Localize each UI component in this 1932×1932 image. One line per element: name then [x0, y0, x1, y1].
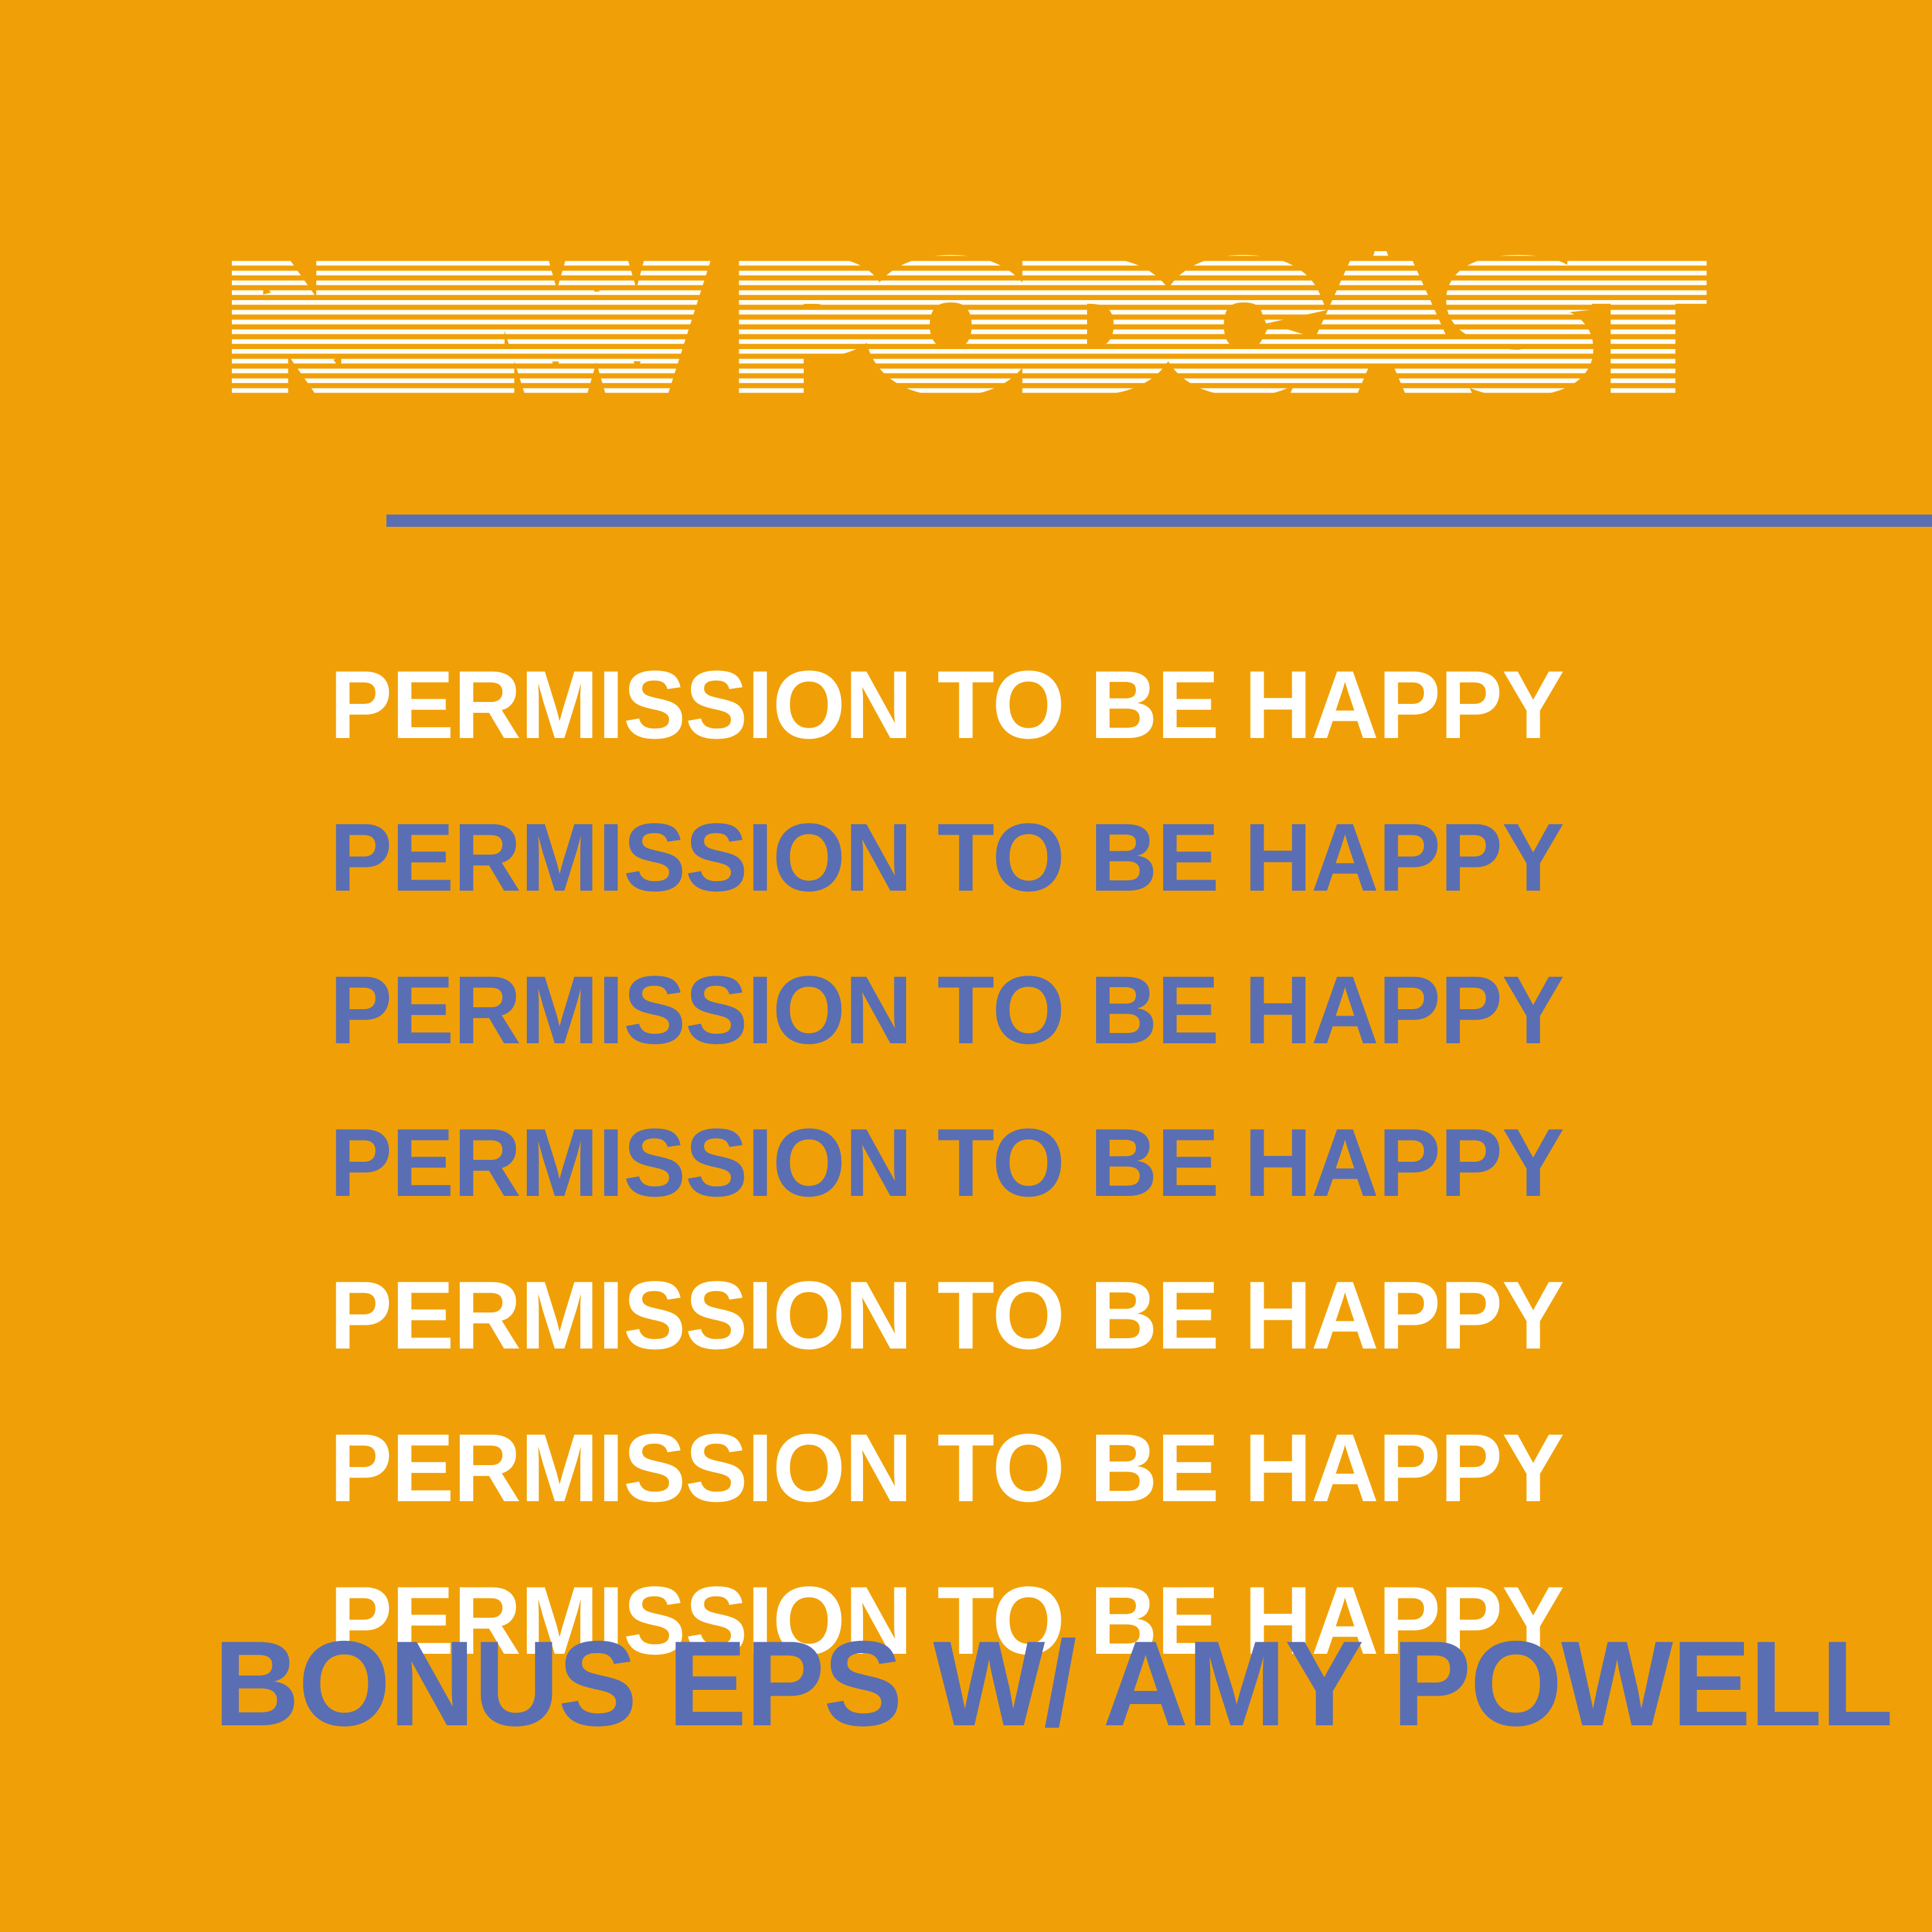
footer-credit-text: BONUS EPS W/ AMY POWELL: [214, 1623, 1892, 1744]
headline-row-text: PERMISSION TO BE HAPPY: [330, 809, 1564, 905]
headline-row-list: PERMISSION TO BE HAPPY PERMISSION TO BE …: [0, 628, 1932, 1696]
podcast-promo-poster: NEW PODCAST PERMISSION TO BE HAPPY PERMI…: [0, 0, 1932, 1932]
headline-row-text: PERMISSION TO BE HAPPY: [330, 1267, 1564, 1363]
headline-row-text: PERMISSION TO BE HAPPY: [330, 961, 1564, 1058]
headline-row-text: PERMISSION TO BE HAPPY: [330, 1114, 1564, 1211]
footer-credit: BONUS EPS W/ AMY POWELL: [214, 1623, 1888, 1744]
poster-title: NEW PODCAST: [232, 251, 1707, 412]
title-stripe-layer: NEW PODCAST: [232, 251, 1707, 412]
headline-row: PERMISSION TO BE HAPPY: [0, 1086, 1932, 1238]
headline-row: PERMISSION TO BE HAPPY: [0, 933, 1932, 1086]
headline-row-text: PERMISSION TO BE HAPPY: [330, 1419, 1564, 1516]
title-striped-text: NEW PODCAST: [232, 251, 1707, 412]
headline-row: PERMISSION TO BE HAPPY: [0, 628, 1932, 781]
headline-row: PERMISSION TO BE HAPPY: [0, 1391, 1932, 1544]
headline-row-text: PERMISSION TO BE HAPPY: [330, 656, 1564, 753]
headline-row: PERMISSION TO BE HAPPY: [0, 1238, 1932, 1391]
title-divider-rule: [386, 515, 1932, 527]
headline-row: PERMISSION TO BE HAPPY: [0, 781, 1932, 933]
